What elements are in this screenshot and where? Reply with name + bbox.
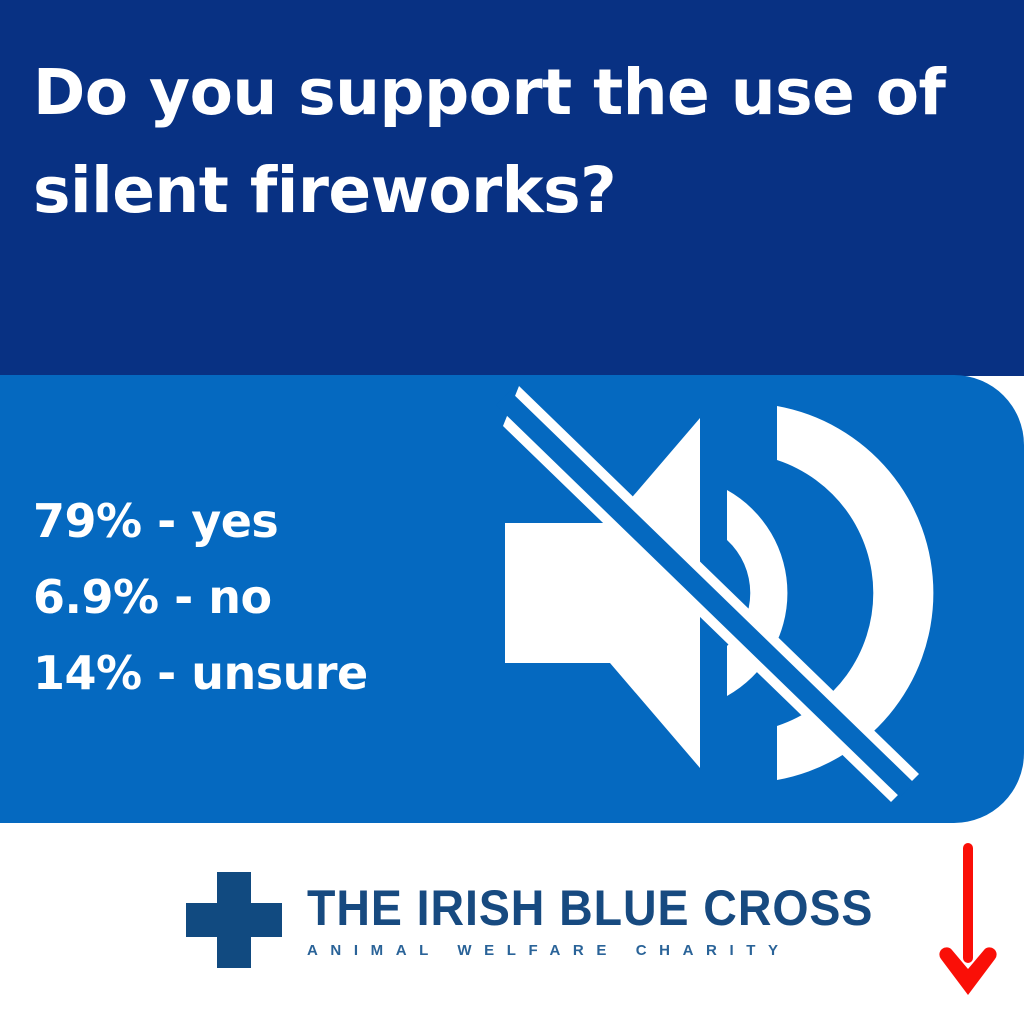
poll-result-yes: 79% - yes [33,483,368,559]
page-title: Do you support the use of silent firewor… [33,44,913,240]
muted-speaker-icon [495,378,935,808]
poster-canvas: Do you support the use of silent firewor… [0,0,1024,1024]
logo-tagline: ANIMAL WELFARE CHARITY [307,942,916,959]
header-band: Do you support the use of silent firewor… [0,0,1024,376]
brand-logo: THE IRISH BLUE CROSS ANIMAL WELFARE CHAR… [186,872,916,968]
page-title-line-1: Do you support the use of [33,44,913,142]
logo-text-block: THE IRISH BLUE CROSS ANIMAL WELFARE CHAR… [307,882,916,959]
cross-vertical-bar [217,872,251,968]
poll-result-unsure: 14% - unsure [33,635,368,711]
poll-results-list: 79% - yes 6.9% - no 14% - unsure [33,483,368,711]
down-arrow-icon [938,843,998,998]
poll-result-no: 6.9% - no [33,559,368,635]
page-title-line-2: silent fireworks? [33,142,913,240]
blue-cross-icon [186,872,282,968]
logo-wordmark: THE IRISH BLUE CROSS [307,882,873,934]
